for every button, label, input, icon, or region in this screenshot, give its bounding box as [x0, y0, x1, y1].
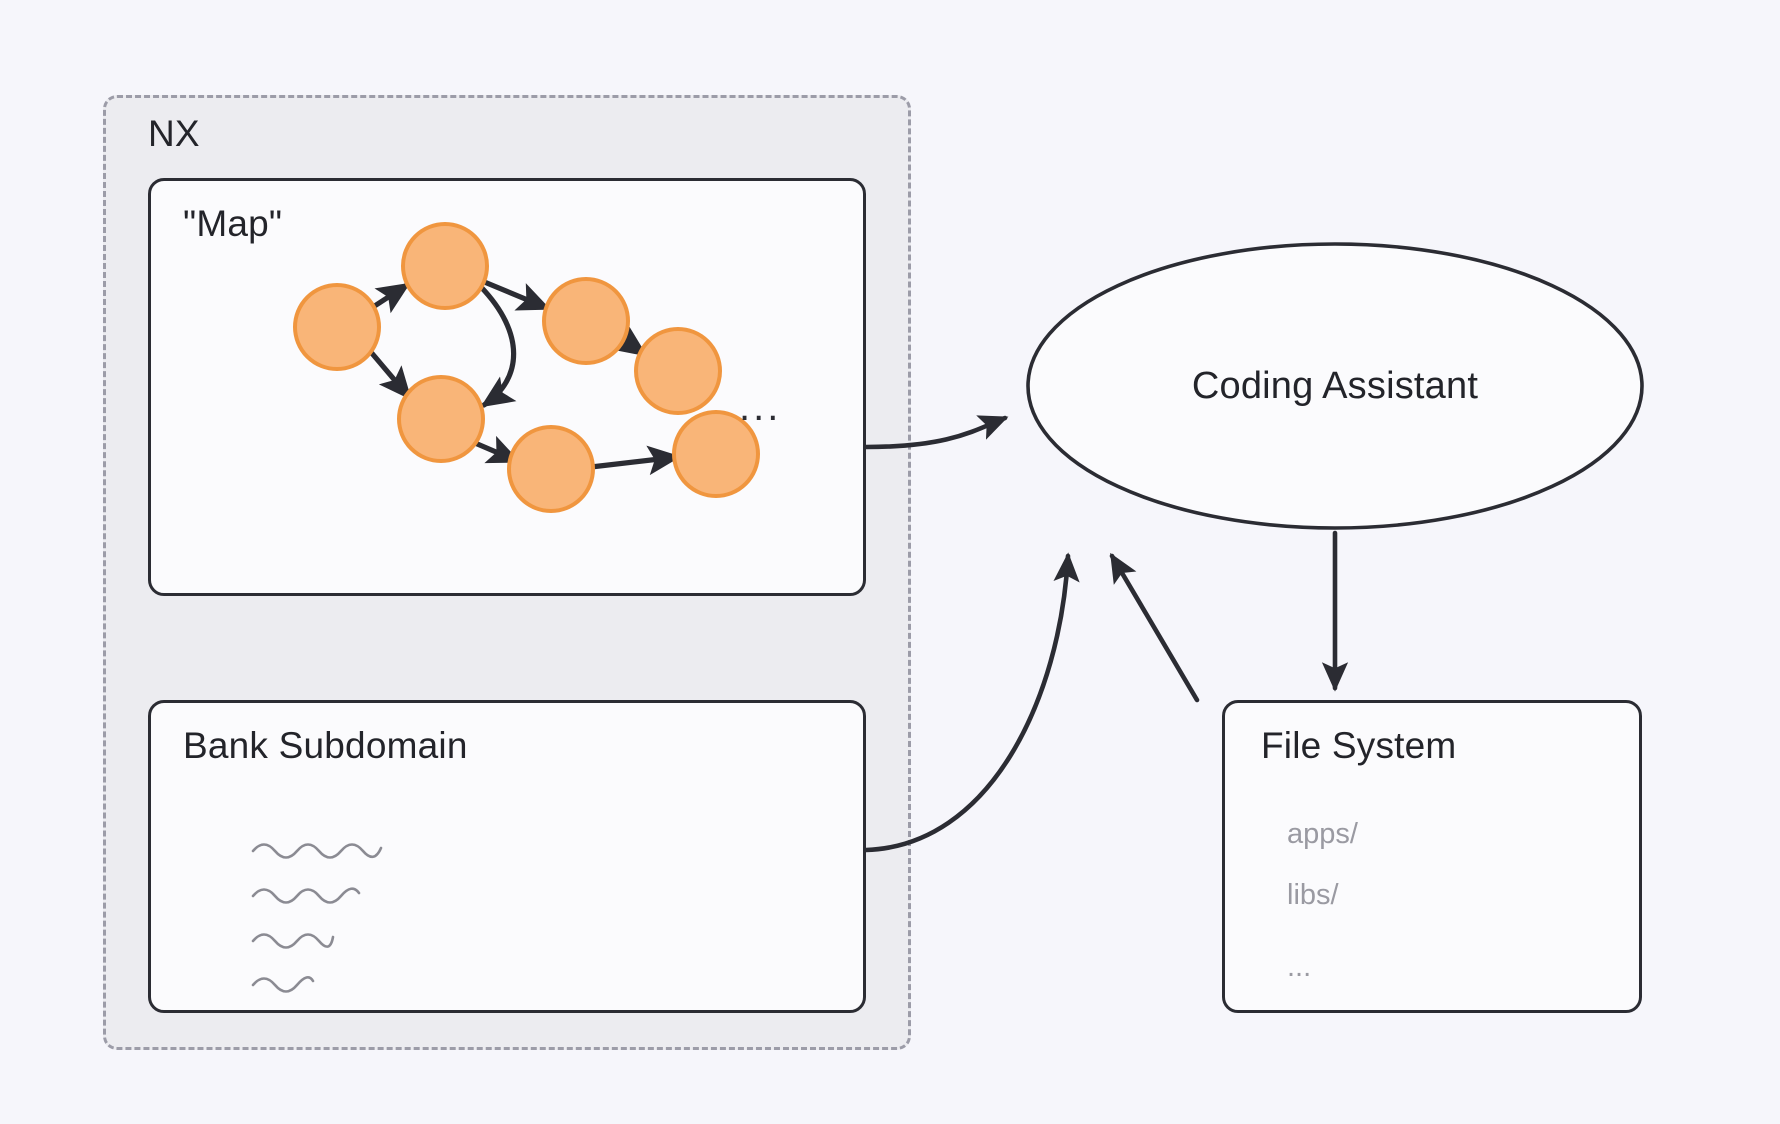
bank-subdomain-card: Bank Subdomain: [148, 700, 866, 1013]
edge-n6-n7: [591, 457, 677, 467]
graph-node: [636, 329, 720, 413]
edge-n1-n4: [370, 351, 409, 397]
map-card: "Map": [148, 178, 866, 596]
graph-node: [403, 224, 487, 308]
edge-n1-n2: [373, 285, 407, 307]
squiggle-line: [253, 977, 313, 991]
diagram-canvas: NX "Map": [0, 0, 1780, 1124]
squiggle-line: [253, 889, 359, 903]
graph-node: [544, 279, 628, 363]
graph-node: [295, 285, 379, 369]
graph-ellipsis: ...: [739, 387, 781, 427]
bank-subdomain-squiggles: [151, 703, 869, 1016]
coding-assistant-node: Coding Assistant: [1024, 240, 1646, 532]
edge-n2-n3: [482, 281, 547, 308]
graph-node: [509, 427, 593, 511]
squiggle-line: [253, 935, 333, 948]
file-system-title: File System: [1261, 725, 1456, 767]
file-system-card: File System apps/ libs/ ...: [1222, 700, 1642, 1013]
arrow-filesystem-to-assistant: [1112, 556, 1197, 700]
file-system-entry: apps/: [1287, 818, 1358, 851]
file-system-entry: ...: [1287, 951, 1311, 984]
nx-container-label: NX: [148, 113, 200, 155]
coding-assistant-label: Coding Assistant: [1024, 240, 1646, 532]
graph-nodes: [295, 224, 758, 511]
edge-n2-n4: [481, 287, 514, 405]
graph-node: [399, 377, 483, 461]
squiggle-line: [253, 845, 381, 858]
file-system-entry: libs/: [1287, 879, 1339, 912]
